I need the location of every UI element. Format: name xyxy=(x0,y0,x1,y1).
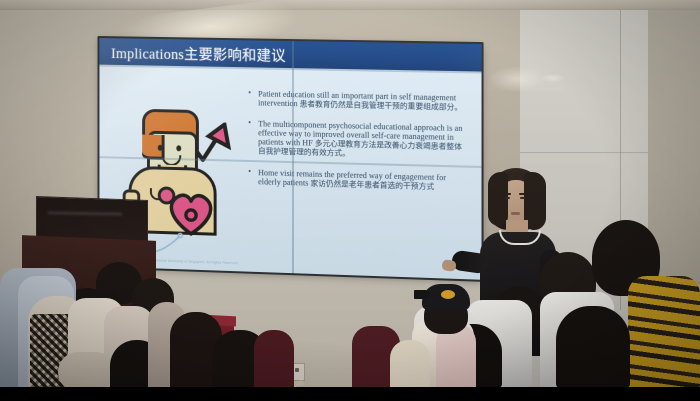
slide-bullet-list: Patient education still an important par… xyxy=(248,89,468,204)
cap-brim xyxy=(414,290,430,299)
audience-dark-red-coat xyxy=(254,330,294,390)
videowall-seam-vertical xyxy=(292,41,294,273)
bullet-1-cn: 患者教育仍然是自我管理干预的重要组成部分。 xyxy=(300,99,463,111)
presenter-hand xyxy=(441,259,456,272)
slide-title: Implications主要影响和建议 xyxy=(111,42,286,66)
right-wall-seam-horizontal xyxy=(520,152,650,153)
eye-left xyxy=(158,145,163,151)
audience-light-coat xyxy=(390,340,430,390)
wall-mark-secondary xyxy=(540,74,566,82)
slide-footer-copyright: National University of Singapore. All Ri… xyxy=(154,258,239,265)
letterbox-bar xyxy=(0,387,700,401)
bullet-3-cn: 家访仍然是老年患者首选的干预方式 xyxy=(311,178,435,190)
lecture-hall-screenshot: Implications主要影响和建议 xyxy=(0,0,700,401)
presenter-brow-left xyxy=(504,193,511,195)
eye-right xyxy=(176,145,181,151)
presentation-slide: Implications主要影响和建议 xyxy=(99,38,481,280)
presenter-mouth xyxy=(511,212,520,215)
audience-person xyxy=(556,306,630,388)
cap-logo-icon xyxy=(441,290,455,299)
slide-bullet-3: Home visit remains the preferred way of … xyxy=(248,168,468,192)
wall-mark xyxy=(488,66,546,92)
video-wall-display[interactable]: Implications主要影响和建议 xyxy=(99,38,481,280)
slide-body: Patient education still an important par… xyxy=(99,65,481,280)
slide-bullet-1: Patient education still an important par… xyxy=(248,89,468,112)
audience-fur-hood xyxy=(58,352,116,392)
slide-bullet-2: The multicomponent psychosocial educatio… xyxy=(248,119,468,161)
presenter-brow-right xyxy=(519,193,526,195)
audience-striped-jacket xyxy=(628,276,700,388)
